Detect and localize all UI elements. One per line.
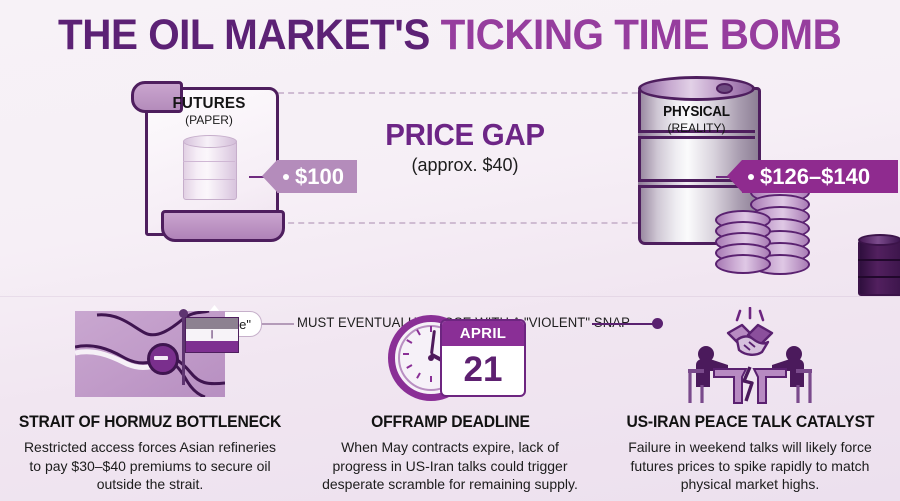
physical-sublabel: (REALITY): [638, 121, 755, 135]
section-divider: [0, 296, 900, 297]
calendar-month: APRIL: [442, 321, 524, 346]
calendar-day: 21: [442, 346, 524, 393]
negotiation-graphic: [680, 307, 820, 407]
iran-flag-icon: ا: [185, 317, 239, 353]
price-gap-title: PRICE GAP: [308, 117, 622, 153]
futures-sublabel: (PAPER): [145, 113, 273, 127]
futures-label: FUTURES: [148, 95, 270, 113]
handshake-table-icon: [600, 305, 900, 411]
driver-panels: ا STRAIT OF HORMUZ BOTTLENECK Restricted…: [0, 305, 900, 501]
physical-price-value: $126–$140: [760, 164, 870, 190]
panel-title-strait: STRAIT OF HORMUZ BOTTLENECK: [19, 413, 281, 432]
price-comparison-section: FUTURES (PAPER) $100 PRICE GAP (approx. …: [0, 62, 900, 292]
physical-label: PHYSICAL: [642, 104, 751, 120]
panel-body-offramp: When May contracts expire, lack of progr…: [320, 438, 580, 494]
panel-title-offramp: OFFRAMP DEADLINE: [371, 413, 530, 432]
calendar-clock-icon: APRIL 21: [300, 305, 600, 411]
panel-offramp-deadline: APRIL 21 OFFRAMP DEADLINE When May contr…: [300, 305, 600, 501]
barrel-cap-icon: [716, 83, 733, 94]
panel-peace-talks: US-IRAN PEACE TALK CATALYST Failure in w…: [600, 305, 900, 501]
infographic-root: THE OIL MARKET'S TICKING TIME BOMB FUTUR…: [0, 0, 900, 501]
flag-emblem: ا: [210, 329, 213, 342]
title-part-1: THE OIL MARKET'S: [58, 11, 441, 59]
title-part-2: TICKING TIME BOMB: [441, 11, 842, 59]
panel-body-strait: Restricted access forces Asian refinerie…: [20, 438, 280, 494]
calendar-icon: APRIL 21: [440, 319, 526, 397]
price-gap-block: PRICE GAP (approx. $40): [300, 117, 630, 176]
panel-strait-of-hormuz: ا STRAIT OF HORMUZ BOTTLENECK Restricted…: [0, 305, 300, 501]
small-dark-barrel: [858, 234, 900, 294]
futures-scroll: FUTURES (PAPER): [131, 79, 281, 244]
scroll-curl-bottom: [161, 210, 285, 242]
gap-guide-line-bottom: [278, 222, 658, 224]
panel-title-peace-talks: US-IRAN PEACE TALK CATALYST: [626, 413, 874, 432]
paper-barrel-icon: [183, 135, 235, 201]
strait-map-icon: ا: [0, 305, 300, 411]
page-title: THE OIL MARKET'S TICKING TIME BOMB: [0, 8, 900, 62]
panel-body-peace-talks: Failure in weekend talks will likely for…: [620, 438, 880, 494]
price-gap-subtitle: (approx. $40): [300, 155, 630, 176]
physical-price-tag: $126–$140: [742, 160, 898, 193]
gap-guide-line-top: [278, 92, 658, 94]
